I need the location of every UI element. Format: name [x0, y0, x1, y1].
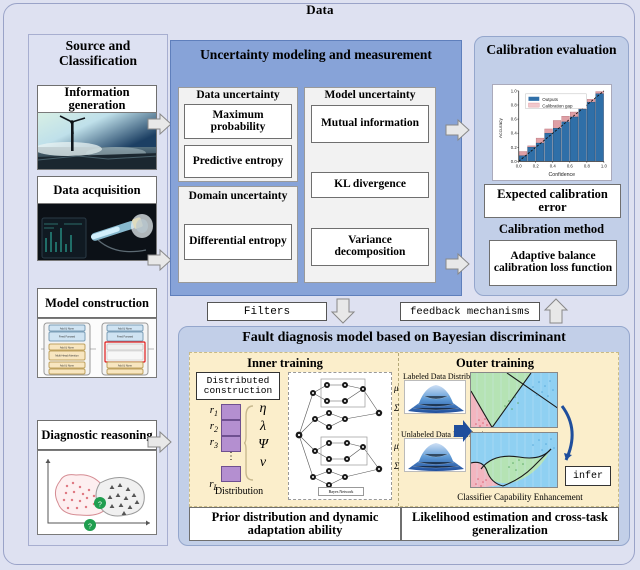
- unlabeled-sigma-symbol: Σ: [394, 461, 399, 471]
- predictive-entropy-box: Predictive entropy: [184, 145, 292, 178]
- domain-uncertainty-title: Domain uncertainty: [178, 190, 298, 202]
- distribution-cell: [221, 436, 241, 452]
- svg-text:Outputs: Outputs: [542, 97, 559, 102]
- svg-text:Calibration gap: Calibration gap: [542, 103, 573, 108]
- svg-text:0.2: 0.2: [533, 163, 540, 168]
- source-classification-heading: Source and Classification: [28, 38, 168, 68]
- svg-text:?: ?: [88, 524, 92, 531]
- cluster-scatter-diagram: ? ?: [37, 450, 157, 535]
- svg-text:1.0: 1.0: [601, 163, 608, 168]
- expected-calibration-error-box: Expected calibration error: [484, 184, 621, 218]
- training-divider: [398, 353, 399, 506]
- page-title: Data: [0, 2, 640, 18]
- calibration-loss-box: Adaptive balance calibration loss functi…: [489, 240, 617, 286]
- svg-text:Add & Norm: Add & Norm: [60, 345, 74, 349]
- infer-box: infer: [565, 466, 611, 486]
- variance-decomposition-box: Variance decomposition: [311, 228, 429, 266]
- prior-distribution-box: Prior distribution and dynamic adaptatio…: [189, 507, 401, 541]
- distribution-row-labels: r1 r2 r3 rL: [196, 404, 218, 494]
- svg-text:0.8: 0.8: [584, 163, 591, 168]
- arrow-labeled-to-unlabeled: [452, 418, 474, 444]
- data-uncertainty-title: Data uncertainty: [178, 89, 298, 101]
- svg-text:0.6: 0.6: [567, 163, 574, 168]
- wind-turbine-photo: [37, 112, 157, 170]
- svg-text:Confidence: Confidence: [548, 172, 575, 178]
- unlabeled-mu-symbol: μ: [394, 441, 399, 451]
- outer-training-title: Outer training: [400, 356, 590, 371]
- row-label-ellipsis: [196, 452, 218, 468]
- calibration-evaluation-heading: Calibration evaluation: [474, 42, 629, 57]
- diagnostic-reasoning-label: Diagnostic reasoning: [37, 420, 157, 450]
- hyperparameter-symbols: η λ Ψ ν: [254, 401, 272, 473]
- svg-text:Multi-Head Attention: Multi-Head Attention: [55, 354, 79, 358]
- svg-text:Add & Norm: Add & Norm: [118, 326, 132, 330]
- svg-text:?: ?: [98, 502, 102, 509]
- data-acquisition-label: Data acquisition: [37, 176, 157, 204]
- distribution-cells-ellipsis: ⋮: [221, 452, 241, 466]
- distribution-cell: [221, 404, 241, 420]
- distributed-construction-box: Distributed construction: [196, 372, 280, 400]
- kl-divergence-box: KL divergence: [311, 172, 429, 198]
- arrow-uncertainty-to-calmethod: [444, 252, 472, 276]
- inner-training-title: Inner training: [195, 356, 375, 371]
- feedback-mechanisms-box[interactable]: feedback mechanisms: [400, 302, 540, 321]
- svg-text:0.4: 0.4: [511, 131, 518, 136]
- data-acquisition-photo: [37, 203, 157, 261]
- svg-text:0.2: 0.2: [511, 145, 518, 150]
- symbol-eta: η: [254, 401, 272, 419]
- distribution-cell: [221, 466, 241, 482]
- labeled-mu-symbol: μ: [394, 383, 399, 393]
- distribution-cell: [221, 420, 241, 436]
- filters-box[interactable]: Filters: [207, 302, 327, 321]
- svg-text:Feed Forward: Feed Forward: [59, 335, 76, 339]
- svg-text:Add & Norm: Add & Norm: [60, 363, 74, 367]
- arrow-diagnostic-to-fault: [146, 430, 174, 454]
- model-uncertainty-title: Model uncertainty: [304, 89, 436, 101]
- information-generation-label: Information generation: [37, 85, 157, 113]
- reliability-diagram-svg: 0.00.20.40.60.81.0 0.00.20.40.60.81.0 Ac…: [493, 85, 611, 180]
- unlabeled-classifier-plot: [470, 432, 558, 488]
- svg-text:0.6: 0.6: [511, 117, 518, 122]
- uncertainty-modeling-heading: Uncertainty modeling and measurement: [170, 47, 462, 63]
- svg-text:0.4: 0.4: [550, 163, 557, 168]
- labeled-classifier-plot: [470, 372, 558, 428]
- model-construction-label: Model construction: [37, 288, 157, 318]
- classifier-enhancement-caption: Classifier Capability Enhancement: [430, 492, 610, 502]
- svg-text:0.8: 0.8: [511, 103, 518, 108]
- arrow-enhancement-loop: [558, 400, 584, 468]
- calibration-method-title: Calibration method: [474, 222, 629, 237]
- svg-text:Feed Forward: Feed Forward: [117, 335, 134, 339]
- arrow-feedback-up: [543, 297, 569, 325]
- labeled-sigma-symbol: Σ: [394, 403, 399, 413]
- distribution-cells: ⋮: [221, 404, 241, 482]
- svg-text:Add & Norm: Add & Norm: [60, 326, 74, 330]
- maximum-probability-box: Maximum probability: [184, 104, 292, 139]
- transformer-architecture-diagram: Add & Norm Feed Forward Add & Norm Multi…: [37, 318, 157, 378]
- fault-diagnosis-heading: Fault diagnosis model based on Bayesian …: [178, 330, 630, 346]
- arrow-filters-down: [330, 297, 356, 325]
- svg-text:0.0: 0.0: [516, 163, 523, 168]
- svg-text:Add & Norm: Add & Norm: [118, 363, 132, 367]
- symbol-psi: Ψ: [254, 437, 272, 455]
- row-label-r3: r3: [196, 436, 218, 452]
- bayes-network-caption: Bayes Network: [318, 487, 364, 496]
- mutual-information-box: Mutual information: [311, 105, 429, 143]
- svg-text:1.0: 1.0: [511, 88, 518, 93]
- symbol-nu: ν: [254, 455, 272, 473]
- arrow-uncertainty-to-calibration: [444, 118, 472, 142]
- row-label-r2: r2: [196, 420, 218, 436]
- differential-entropy-box: Differential entropy: [184, 224, 292, 260]
- svg-text:Accuracy: Accuracy: [498, 118, 504, 139]
- diagram-root: Data Source and Classification Informati…: [0, 0, 640, 570]
- row-label-r1: r1: [196, 404, 218, 420]
- reliability-diagram-chart: 0.00.20.40.60.81.0 0.00.20.40.60.81.0 Ac…: [492, 84, 612, 181]
- labeled-gaussian-plot: [404, 380, 466, 414]
- symbol-lambda: λ: [254, 419, 272, 437]
- likelihood-estimation-box: Likelihood estimation and cross-task gen…: [401, 507, 619, 541]
- bayes-network-diagram: [288, 372, 392, 500]
- distribution-caption: Distribution: [192, 486, 286, 497]
